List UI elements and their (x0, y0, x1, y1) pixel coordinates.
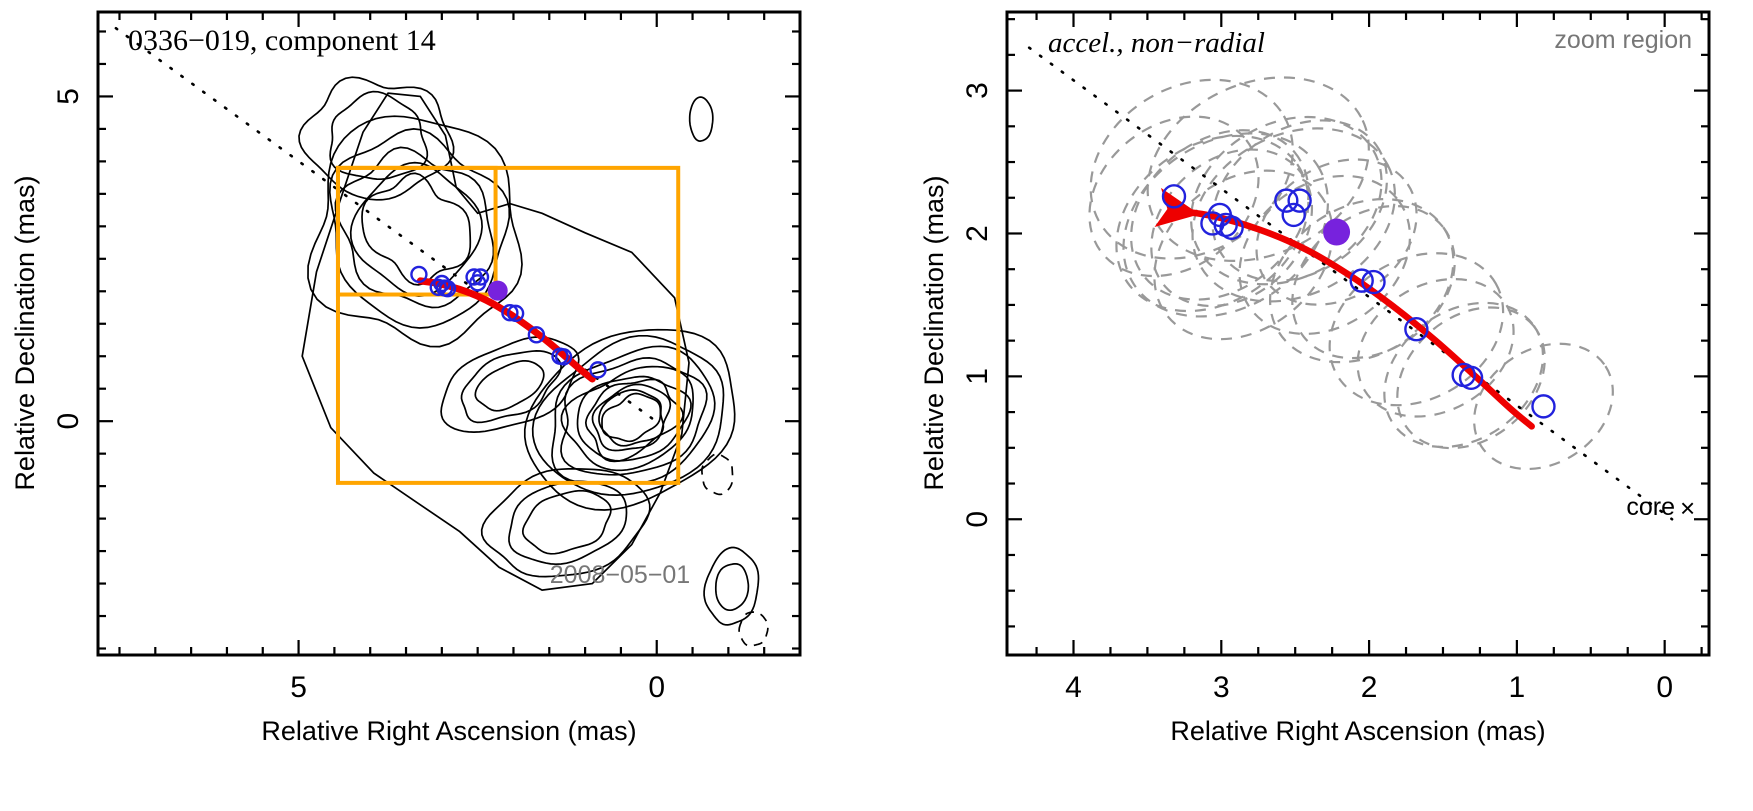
tick-label-x: 0 (1656, 671, 1673, 704)
error-ellipse (1450, 318, 1636, 494)
contour-isolated-feature (704, 548, 758, 625)
error-ellipse (1058, 84, 1290, 309)
tick-label-x: 5 (290, 671, 307, 704)
data-point (1289, 190, 1311, 212)
zoom-region-label: zoom region (1554, 26, 1692, 54)
tick-label-x: 2 (1361, 671, 1378, 704)
highlight-data-point (488, 281, 508, 301)
mode-label: accel., non−radial (1048, 27, 1265, 59)
error-ellipse (1058, 44, 1325, 294)
right-panel-svg: accel., non−radial zoom region core × 43… (880, 0, 1753, 811)
left-yaxis-label: Relative Declination (mas) (10, 175, 40, 490)
core-cross-icon: × (1680, 493, 1695, 523)
tick-label-x: 3 (1213, 671, 1230, 704)
tick-label-y: 0 (961, 511, 994, 528)
tick-label-y: 2 (961, 225, 994, 242)
tick-label-x: 0 (648, 671, 665, 704)
data-point (590, 362, 605, 377)
tick-label-x: 1 (1509, 671, 1526, 704)
contour-isolated-feature (716, 564, 749, 610)
epoch-label: 2008−05−01 (550, 561, 690, 589)
right-yaxis-label: Relative Declination (mas) (919, 175, 949, 490)
tick-label-y: 1 (961, 368, 994, 385)
tick-label-x: 4 (1065, 671, 1082, 704)
data-point (1532, 395, 1554, 417)
tick-label-y: 3 (961, 82, 994, 99)
error-ellipses-group (1058, 43, 1637, 495)
figure-root: 0336−019, component 14 2008−05−01 5050 R… (0, 0, 1753, 811)
data-point (1163, 185, 1185, 207)
right-xaxis-label: Relative Right Ascension (mas) (1170, 716, 1545, 746)
contour-level (586, 379, 683, 461)
right-axis-ticks (1007, 12, 1709, 655)
left-xaxis-label: Relative Right Ascension (mas) (261, 716, 636, 746)
left-panel-svg: 0336−019, component 14 2008−05−01 5050 R… (0, 0, 860, 811)
contour-level (299, 77, 454, 200)
zoom-box-outer (338, 168, 678, 483)
left-panel: 0336−019, component 14 2008−05−01 5050 R… (0, 0, 860, 811)
right-tick-labels: 432103210 (961, 82, 1673, 704)
contour-negative (702, 454, 733, 494)
contour-negative (739, 612, 768, 646)
right-data-points-group (1163, 185, 1554, 417)
highlight-data-point (1323, 219, 1350, 246)
tick-label-y: 5 (52, 88, 85, 105)
left-panel-title: 0336−019, component 14 (128, 24, 436, 57)
right-panel: accel., non−radial zoom region core × 43… (880, 0, 1753, 811)
tick-label-y: 0 (52, 413, 85, 430)
zoom-box-inner (338, 168, 496, 295)
contour-small-feature (690, 97, 713, 141)
zoom-region-boxes (338, 168, 678, 483)
contour-map (299, 77, 768, 646)
core-label: core (1626, 493, 1675, 521)
right-plot-frame (1007, 12, 1709, 655)
